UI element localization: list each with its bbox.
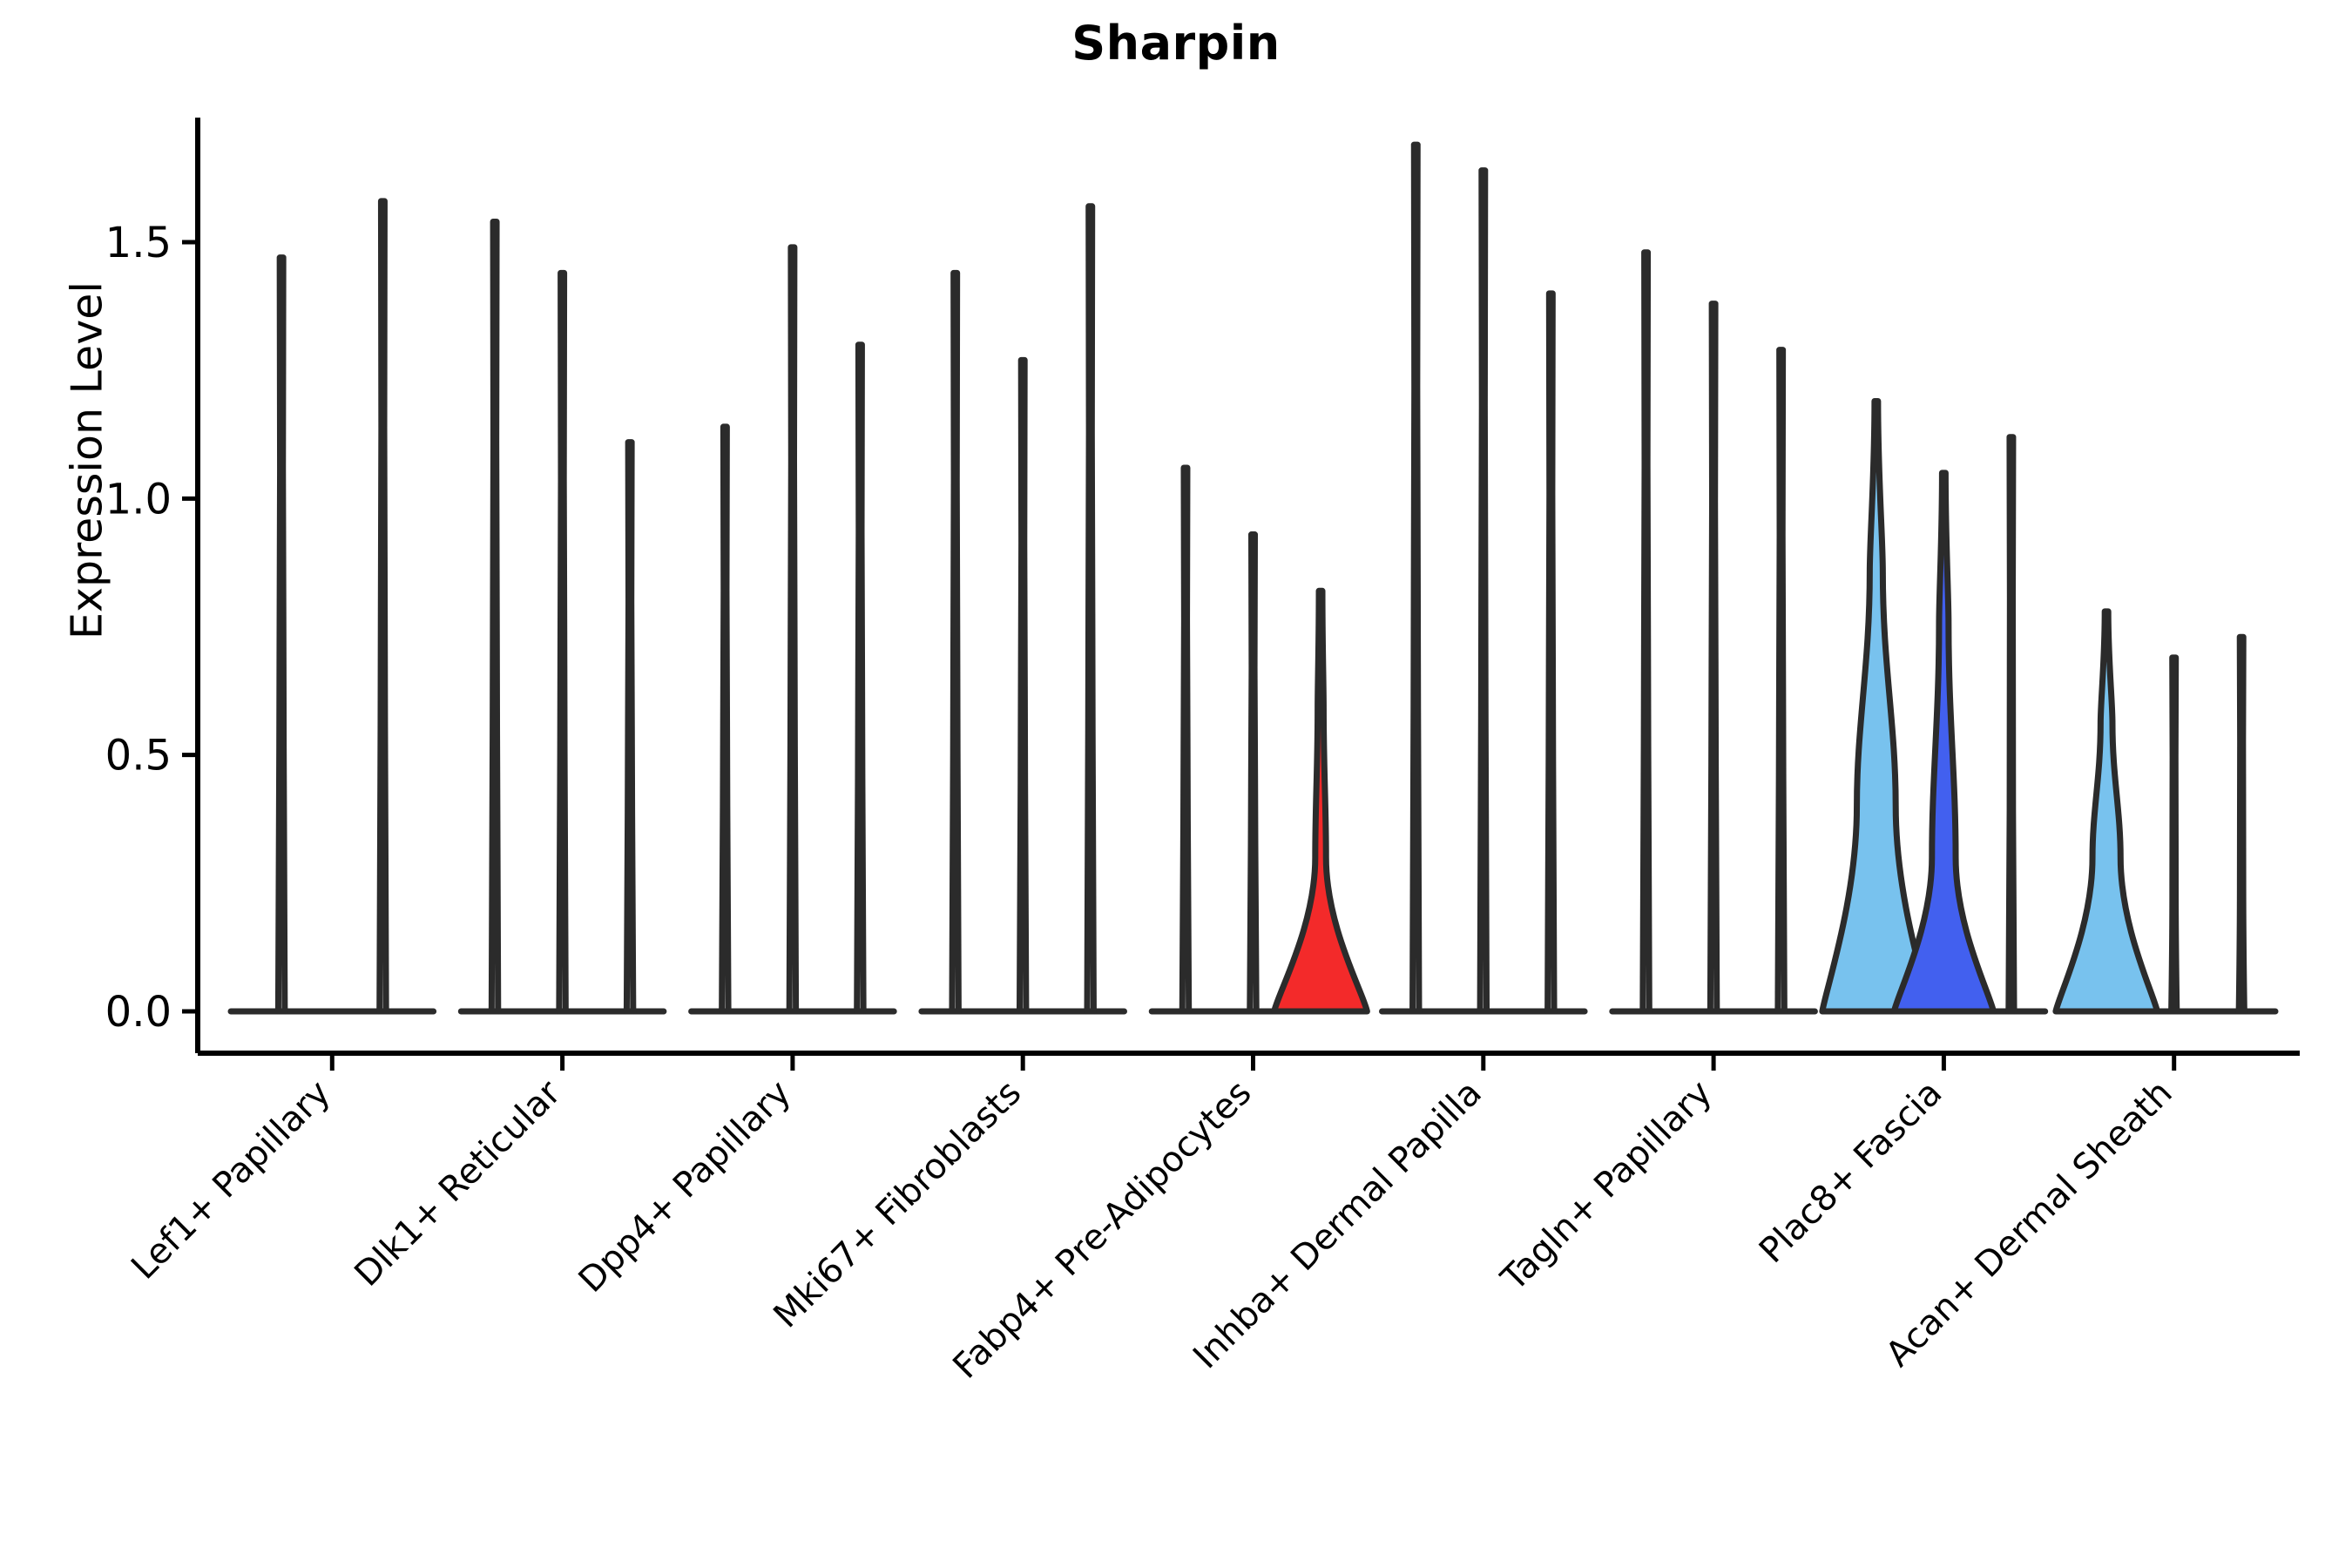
violin-plot-figure: Sharpin Expression Level 0.00.51.01.5 Le… — [0, 0, 2352, 1568]
y-tick-label: 1.5 — [105, 219, 172, 267]
y-tick-label: 0.5 — [105, 732, 172, 781]
violin-shape — [2239, 637, 2244, 1011]
violin-shape — [626, 443, 632, 1011]
violin-shape — [278, 258, 284, 1011]
x-tick-label: Dlk1+ Reticular — [347, 1072, 569, 1294]
violin-series — [231, 145, 2275, 1011]
violin-shape — [1250, 535, 1256, 1011]
violin-shape — [491, 221, 497, 1011]
violin-shape — [1778, 350, 1784, 1011]
violin-shape — [559, 273, 565, 1011]
violin-shape — [1710, 304, 1716, 1011]
violin-shape — [1087, 206, 1093, 1011]
violin-shape — [1548, 294, 1554, 1011]
violin-shape — [952, 273, 958, 1011]
y-axis-ticks: 0.00.51.01.5 — [105, 219, 198, 1037]
violin-shape — [789, 247, 795, 1011]
x-tick-label: Mki67+ Fibroblasts — [766, 1073, 1029, 1336]
x-tick-label: Plac8+ Fascia — [1752, 1073, 1950, 1272]
violin-shape — [857, 345, 863, 1011]
x-axis-tick-labels: Lef1+ PapillaryDlk1+ ReticularDpp4+ Papi… — [124, 1072, 2180, 1387]
violin-shape — [1480, 171, 1486, 1011]
x-tick-label: Tagln+ Papillary — [1493, 1073, 1720, 1300]
violin-shape — [2009, 437, 2014, 1011]
violin-shape — [1822, 401, 1930, 1011]
violin-shape — [380, 201, 386, 1011]
y-tick-label: 0.0 — [105, 988, 172, 1037]
y-tick-label: 1.0 — [105, 475, 172, 524]
violin-shape — [1182, 468, 1188, 1011]
violin-shape — [1643, 253, 1649, 1011]
violin-shape — [2172, 658, 2177, 1011]
x-tick-label: Lef1+ Papillary — [124, 1073, 338, 1288]
violin-shape — [2056, 612, 2158, 1011]
violin-shape — [1019, 360, 1025, 1011]
x-tick-label: Dpp4+ Papillary — [571, 1073, 799, 1301]
violin-plot-canvas: 0.00.51.01.5 Lef1+ PapillaryDlk1+ Reticu… — [0, 0, 2352, 1568]
violin-shape — [1274, 591, 1368, 1011]
violin-shape — [722, 427, 728, 1011]
violin-shape — [1413, 145, 1419, 1011]
